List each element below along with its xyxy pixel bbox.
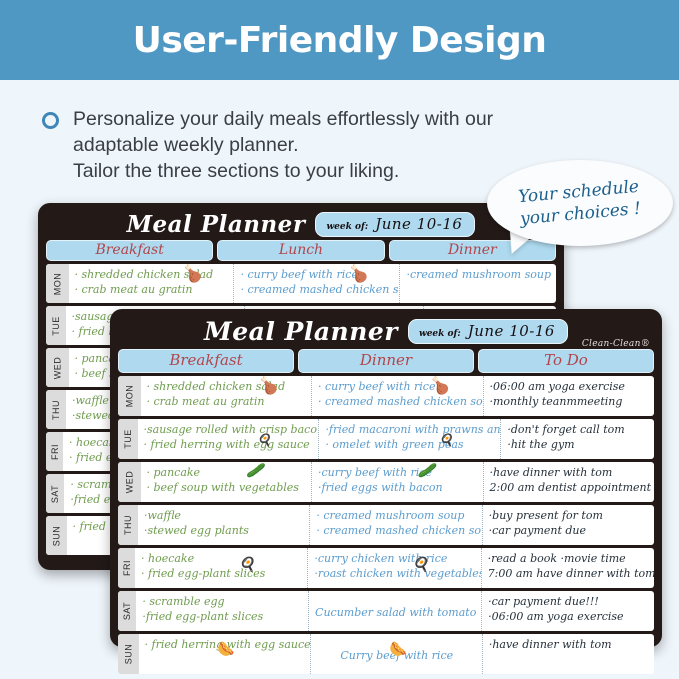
day-label: WED (52, 356, 62, 379)
dinner-line: · curry beef with rice (318, 379, 478, 394)
todo-line: ·car payment due!!! (488, 594, 649, 609)
breakfast-line: ·waffle (144, 508, 304, 523)
board-front-title: Meal Planner (204, 317, 398, 346)
intro-line-3: Tailor the three sections to your liking… (73, 158, 493, 184)
breakfast-cell[interactable]: · fried herring with egg sauce🌭 (139, 634, 311, 674)
board-back-title: Meal Planner (127, 211, 306, 238)
dinner-line: ·curry beef with rice (318, 465, 478, 480)
todo-line: ·don't forget call tom (507, 422, 654, 437)
breakfast-line: ·stewed egg plants (144, 523, 304, 538)
day-label: THU (51, 400, 61, 420)
intro-text: Personalize your daily meals effortlessl… (73, 106, 493, 184)
dinner-line: · creamed mashed chicken soup (318, 394, 478, 409)
chicken-drumstick-icon: 🍗 (347, 266, 368, 283)
dinner-cell[interactable]: ·creamed mushroom soup (400, 264, 556, 303)
todo-line: ·06:00 am yoga exercise (490, 379, 650, 394)
table-row[interactable]: THU·waffle·stewed egg plants· creamed mu… (118, 505, 654, 545)
table-row[interactable]: SUN· fried herring with egg sauce🌭Curry … (118, 634, 654, 674)
breakfast-cell[interactable]: · scramble egg·fried egg-plant slices (136, 591, 309, 631)
breakfast-cell[interactable]: · shredded chicken salad· crab meat au g… (141, 376, 313, 416)
column-header-lunch: Lunch (217, 240, 384, 261)
dinner-line: Cucumber salad with tomato (315, 605, 476, 620)
row-cells: · shredded chicken salad· crab meat au g… (69, 264, 557, 303)
sausage-icon: 🌭 (388, 642, 407, 657)
fried-egg-icon: 🍳 (439, 434, 454, 446)
day-label: THU (123, 515, 133, 535)
page-title: User-Friendly Design (133, 20, 547, 61)
dinner-line: ·roast chicken with vegetables (314, 566, 475, 581)
todo-line: 7:00 am have dinner with tom (488, 566, 649, 581)
table-row[interactable]: WED· pancake· beef soup with vegetables🥒… (118, 462, 654, 502)
breakfast-cell[interactable]: ·sausage rolled with crisp bacon· fried … (138, 419, 320, 459)
todo-line: ·hit the gym (507, 437, 654, 452)
fried-egg-icon: 🍳 (257, 434, 272, 446)
day-tab-sun: SUN (46, 516, 67, 555)
chicken-drumstick-icon: 🍗 (256, 378, 277, 395)
column-header-todo: To Do (478, 349, 654, 373)
todo-line: ·buy present for tom (489, 508, 649, 523)
dinner-cell[interactable]: · creamed mushroom soup· creamed mashed … (310, 505, 482, 545)
dinner-cell[interactable]: ·curry beef with rice·fried eggs with ba… (312, 462, 484, 502)
dinner-cell[interactable]: ·fried macaroni with prawns and eggs· om… (319, 419, 501, 459)
lunch-cell[interactable]: · curry beef with rice· creamed mashed c… (234, 264, 400, 303)
todo-cell[interactable]: ·have dinner with tom (483, 634, 654, 674)
day-label: SUN (123, 644, 133, 665)
day-tab-wed: WED (46, 348, 69, 387)
chicken-drumstick-icon: 🍗 (181, 266, 202, 283)
row-cells: ·waffle·stewed egg plants· creamed mushr… (138, 505, 654, 545)
table-row[interactable]: MON· shredded chicken salad· crab meat a… (118, 376, 654, 416)
breakfast-line: · hoecake (141, 551, 302, 566)
dinner-line: · creamed mushroom soup (316, 508, 476, 523)
row-cells: · pancake· beef soup with vegetables🥒·cu… (141, 462, 655, 502)
breakfast-line: · pancake (147, 465, 307, 480)
day-tab-fri: FRI (118, 548, 135, 588)
board-front-header: Meal Planner week of: June 10-16 Clean-C… (118, 315, 654, 348)
dinner-cell[interactable]: Cucumber salad with tomato (309, 591, 482, 631)
row-cells: · scramble egg·fried egg-plant slicesCuc… (136, 591, 654, 631)
day-tab-sun: SUN (118, 634, 139, 674)
breakfast-cell[interactable]: · shredded chicken salad· crab meat au g… (69, 264, 235, 303)
week-of-value[interactable]: June 10-16 (468, 322, 555, 340)
chicken-drumstick-icon: 🍗 (428, 378, 449, 395)
day-label: FRI (50, 444, 60, 460)
table-row[interactable]: MON· shredded chicken salad· crab meat a… (46, 264, 556, 303)
column-header-breakfast: Breakfast (118, 349, 294, 373)
brand-logo: Clean-Clean® (582, 339, 650, 349)
board-back-header: Meal Planner week of: June 10-16 (46, 209, 556, 239)
day-label: SUN (51, 525, 61, 546)
table-row[interactable]: SAT· scramble egg·fried egg-plant slices… (118, 591, 654, 631)
table-row[interactable]: TUE·sausage rolled with crisp bacon· fri… (118, 419, 654, 459)
cucumber-slices-icon: 🥒 (246, 464, 263, 478)
dinner-cell[interactable]: Curry beef with rice🌭 (311, 634, 483, 674)
day-tab-sat: SAT (46, 474, 64, 513)
breakfast-cell[interactable]: ·waffle·stewed egg plants (138, 505, 310, 545)
breakfast-line: ·fried egg-plant slices (142, 609, 303, 624)
row-cells: ·sausage rolled with crisp bacon· fried … (138, 419, 655, 459)
dinner-line: · creamed mashed chicken soup (316, 523, 476, 538)
day-tab-thu: THU (46, 390, 66, 429)
speech-bubble-text: Your schedule your choices ! (518, 176, 642, 230)
todo-line: ·monthly teanmmeeting (490, 394, 650, 409)
day-label: WED (124, 471, 134, 494)
todo-line: ·have dinner with tom (489, 637, 649, 652)
day-tab-wed: WED (118, 462, 141, 502)
day-tab-mon: MON (46, 264, 69, 303)
dinner-cell[interactable]: ·curry chicken with rice·roast chicken w… (308, 548, 481, 588)
todo-line: ·car payment due (489, 523, 649, 538)
breakfast-line: · crab meat au gratin (75, 282, 229, 297)
dinner-line: ·fried eggs with bacon (318, 480, 478, 495)
day-label: FRI (122, 560, 132, 576)
column-header-breakfast: Breakfast (46, 240, 213, 261)
board-front-column-headers: Breakfast Dinner To Do (118, 349, 654, 373)
day-label: SAT (50, 484, 60, 502)
todo-line: ·06:00 am yoga exercise (488, 609, 649, 624)
breakfast-line: · shredded chicken salad (75, 267, 229, 282)
row-cells: · fried herring with egg sauce🌭Curry bee… (139, 634, 654, 674)
breakfast-line: · fried egg-plant slices (141, 566, 302, 581)
lunch-line: · curry beef with rice (240, 267, 394, 282)
day-label: MON (124, 385, 134, 408)
board-front-week-of: week of: June 10-16 (408, 319, 568, 344)
breakfast-line: · beef soup with vegetables (147, 480, 307, 495)
day-label: TUE (51, 316, 61, 336)
dinner-cell[interactable]: · curry beef with rice· creamed mashed c… (312, 376, 484, 416)
lunch-line: · creamed mashed chicken soup (240, 282, 394, 297)
dinner-line: ·curry chicken with rice (314, 551, 475, 566)
meal-planner-board-front: Meal Planner week of: June 10-16 Clean-C… (110, 309, 662, 647)
breakfast-line: · fried herring with egg sauce (144, 437, 314, 452)
day-tab-sat: SAT (118, 591, 136, 631)
todo-cell[interactable]: ·buy present for tom·car payment due (483, 505, 654, 545)
day-tab-fri: FRI (46, 432, 63, 471)
day-tab-mon: MON (118, 376, 141, 416)
day-tab-thu: THU (118, 505, 138, 545)
day-label: TUE (123, 429, 133, 449)
day-label: SAT (122, 602, 132, 620)
intro-line-2: adaptable weekly planner. (73, 132, 493, 158)
dinner-line: ·fried macaroni with prawns and eggs (325, 422, 495, 437)
todo-cell[interactable]: ·don't forget call tom·hit the gym (501, 419, 654, 459)
dinner-line: ·creamed mushroom soup (406, 267, 556, 282)
todo-line: ·read a book ·movie time (488, 551, 649, 566)
breakfast-cell[interactable]: · pancake· beef soup with vegetables🥒 (141, 462, 313, 502)
breakfast-line: · shredded chicken salad (147, 379, 307, 394)
cucumber-slices-icon: 🥒 (418, 464, 435, 478)
todo-cell[interactable]: ·have dinner with tom2:00 am dentist app… (484, 462, 655, 502)
breakfast-line: · scramble egg (142, 594, 303, 609)
table-row[interactable]: FRI· hoecake· fried egg-plant slices🍳·cu… (118, 548, 654, 588)
todo-line: ·have dinner with tom (490, 465, 650, 480)
speech-bubble: Your schedule your choices ! (487, 160, 673, 246)
day-tab-tue: TUE (118, 419, 138, 459)
fried-egg-plate-icon: 🍳 (412, 558, 429, 572)
todo-cell[interactable]: ·06:00 am yoga exercise·monthly teanmmee… (484, 376, 655, 416)
board-back-week-of: week of: June 10-16 (315, 212, 475, 237)
ring-bullet-icon (42, 112, 59, 129)
week-of-label: week of: (419, 329, 461, 339)
fried-egg-plate-icon: 🍳 (238, 558, 255, 572)
breakfast-line: ·sausage rolled with crisp bacon (144, 422, 314, 437)
todo-cell[interactable]: ·car payment due!!!·06:00 am yoga exerci… (482, 591, 654, 631)
day-tab-tue: TUE (46, 306, 66, 345)
week-of-value[interactable]: June 10-16 (375, 215, 462, 233)
board-back-column-headers: Breakfast Lunch Dinner (46, 240, 556, 261)
sausage-icon: 🌭 (216, 642, 235, 657)
todo-cell[interactable]: ·read a book ·movie time7:00 am have din… (482, 548, 654, 588)
intro-line-1: Personalize your daily meals effortlessl… (73, 106, 493, 132)
breakfast-cell[interactable]: · hoecake· fried egg-plant slices🍳 (135, 548, 308, 588)
board-front-rows: MON· shredded chicken salad· crab meat a… (118, 376, 654, 674)
breakfast-line: · crab meat au gratin (147, 394, 307, 409)
dinner-line: · omelet with green peas (325, 437, 495, 452)
page-banner: User-Friendly Design (0, 0, 679, 80)
column-header-dinner: Dinner (298, 349, 474, 373)
todo-line: 2:00 am dentist appointment (490, 480, 650, 495)
week-of-label: week of: (326, 222, 368, 232)
row-cells: · hoecake· fried egg-plant slices🍳·curry… (135, 548, 654, 588)
row-cells: · shredded chicken salad· crab meat au g… (141, 376, 655, 416)
day-label: MON (52, 272, 62, 295)
